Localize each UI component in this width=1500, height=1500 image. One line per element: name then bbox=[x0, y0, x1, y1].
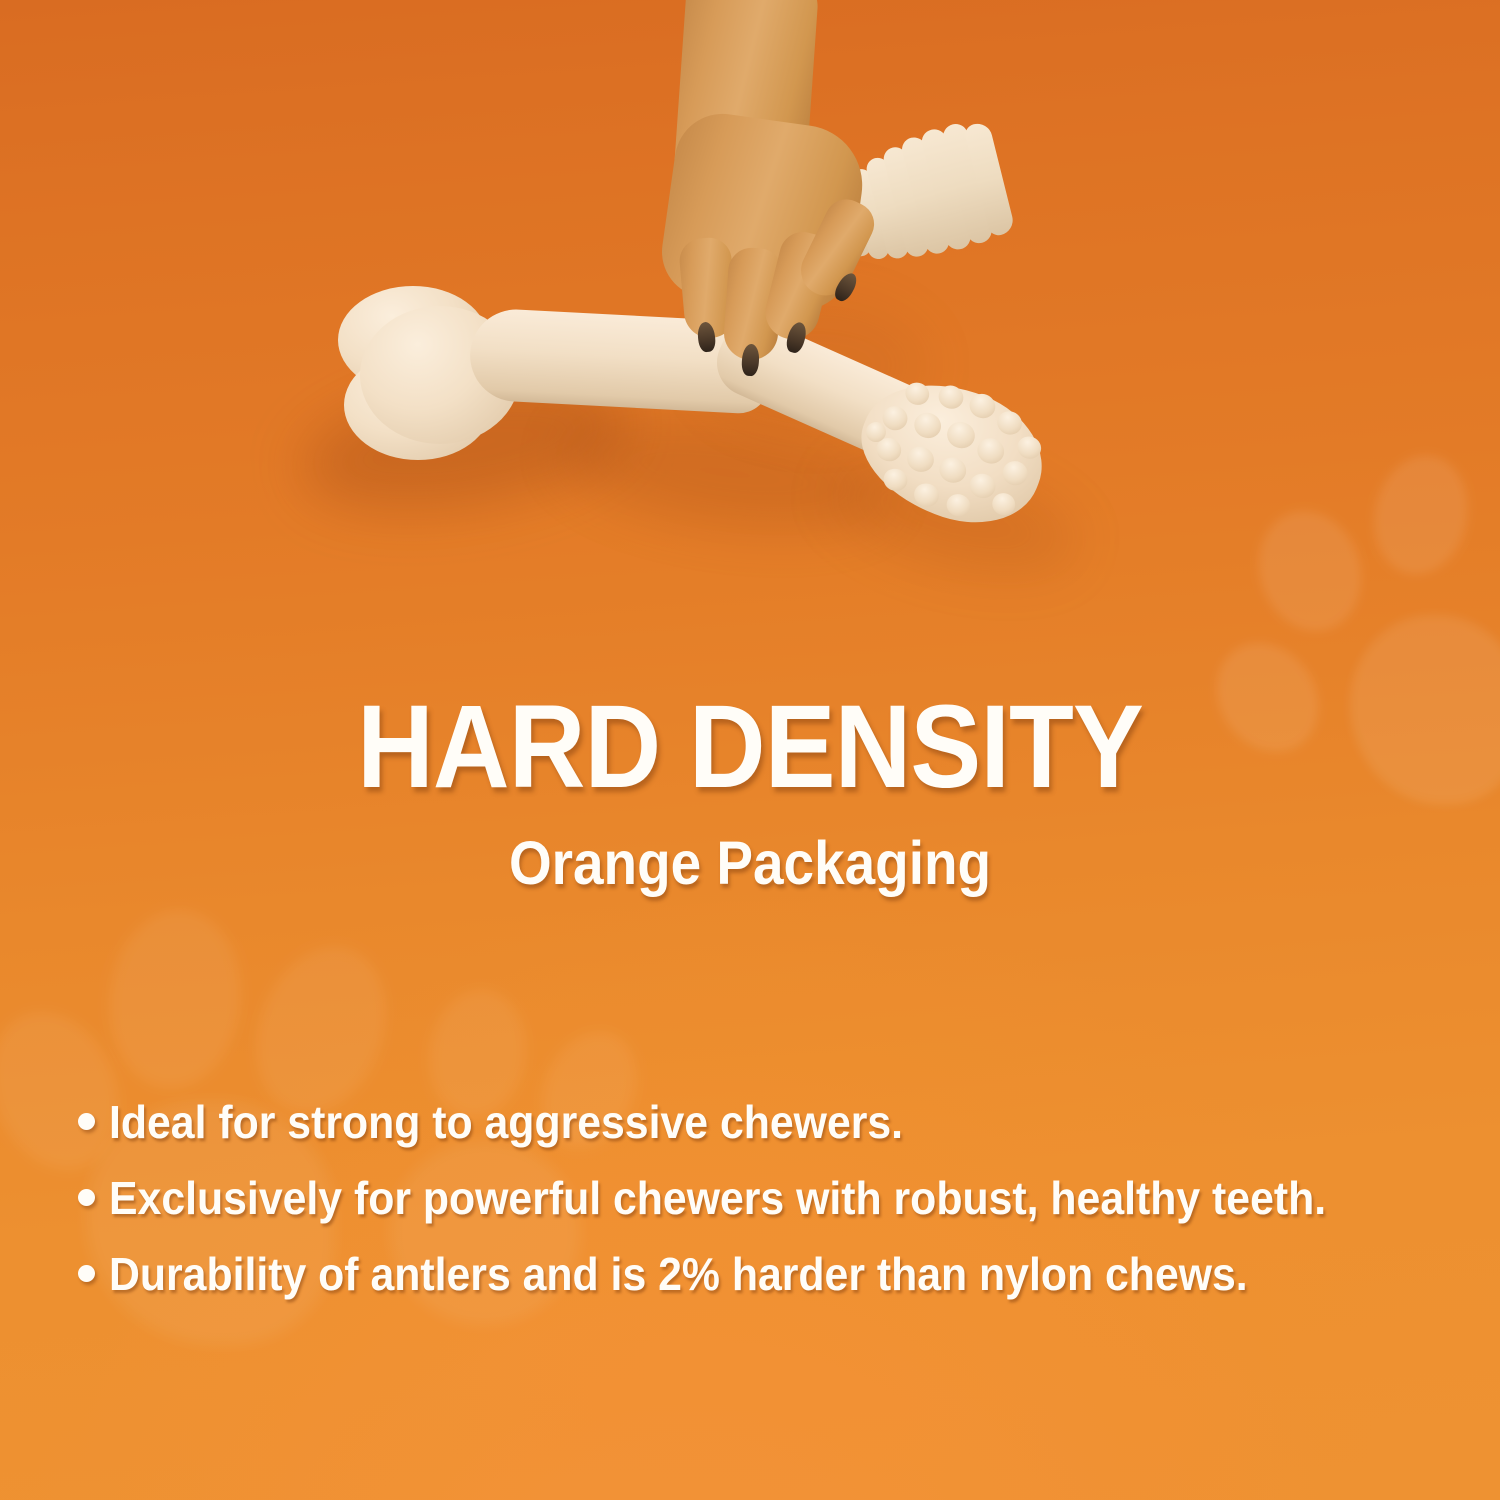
product-feature-card: HARD DENSITY Orange Packaging Ideal for … bbox=[0, 0, 1500, 1500]
feature-text: Durability of antlers and is 2% harder t… bbox=[109, 1250, 1248, 1299]
list-item: Ideal for strong to aggressive chewers. bbox=[78, 1098, 1478, 1147]
text-content: HARD DENSITY Orange Packaging Ideal for … bbox=[0, 0, 1500, 1500]
feature-text: Exclusively for powerful chewers with ro… bbox=[109, 1174, 1326, 1223]
feature-list: Ideal for strong to aggressive chewers. … bbox=[78, 1098, 1478, 1325]
bullet-dot-icon bbox=[78, 1113, 95, 1130]
feature-text: Ideal for strong to aggressive chewers. bbox=[109, 1098, 903, 1147]
page-title: HARD DENSITY bbox=[75, 688, 1425, 806]
list-item: Durability of antlers and is 2% harder t… bbox=[78, 1250, 1478, 1299]
bullet-dot-icon bbox=[78, 1265, 95, 1282]
list-item: Exclusively for powerful chewers with ro… bbox=[78, 1174, 1478, 1223]
page-subtitle: Orange Packaging bbox=[75, 833, 1425, 894]
bullet-dot-icon bbox=[78, 1189, 95, 1206]
